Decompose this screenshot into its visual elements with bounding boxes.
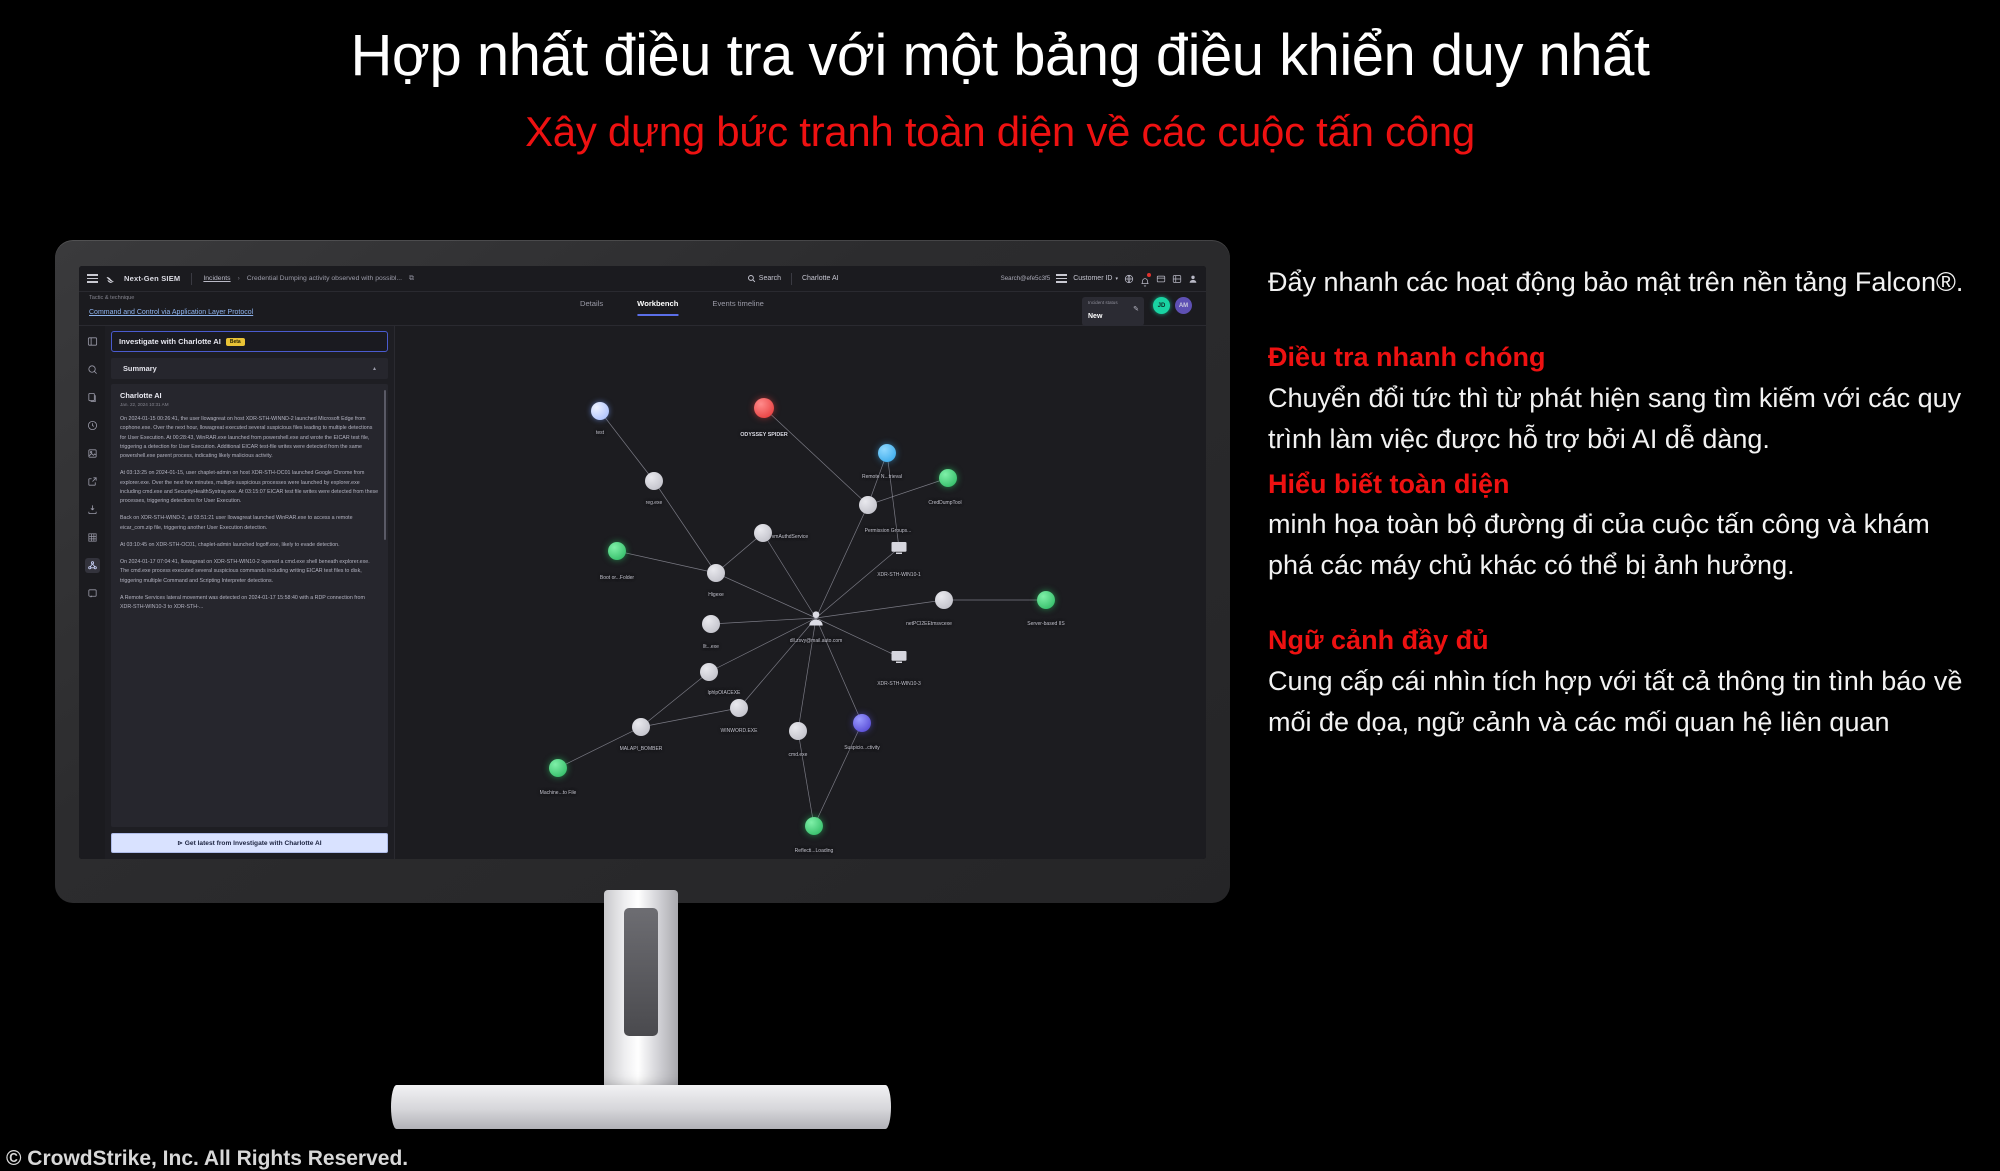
lead-paragraph: Đẩy nhanh các hoạt động bảo mật trên nền… (1268, 262, 1968, 303)
divider (191, 273, 192, 285)
charlotte-header[interactable]: Investigate with Charlotte AI Beta ▯ (111, 331, 388, 352)
app-brand: Next-Gen SIEM (124, 274, 180, 283)
page-subtitle: Xây dựng bức tranh toàn diện về các cuộc… (0, 108, 2000, 156)
graph-node-label: reg.exe (646, 500, 663, 506)
graph-node-label: Suspicio...ctivity (844, 745, 880, 751)
graph-node[interactable] (549, 759, 567, 777)
graph-node[interactable] (890, 648, 908, 666)
hamburger-icon[interactable] (87, 274, 98, 283)
copy-icon[interactable]: ⧉ (409, 275, 414, 283)
monitor-mockup: Next-Gen SIEM Incidents › Credential Dum… (55, 240, 1230, 1150)
beta-badge: Beta (226, 338, 245, 346)
tab-workbench[interactable]: Workbench (637, 299, 678, 316)
graph-nodes: testODYSSEY SPIDERreg.exeRemote N...trie… (395, 326, 1206, 859)
status-badge[interactable]: Incident status New ✎ (1082, 297, 1144, 326)
graph-node[interactable] (890, 539, 908, 557)
grid-table-icon[interactable] (85, 530, 100, 545)
external-link-icon[interactable] (85, 474, 100, 489)
benefit-title: Hiểu biết toàn diện (1268, 464, 1968, 505)
graph-node-label: llt...exe (703, 644, 719, 650)
summary-title: Summary (123, 364, 157, 373)
panel-toggle-icon[interactable] (85, 334, 100, 349)
search-icon[interactable] (85, 362, 100, 377)
avatar[interactable]: AM (1175, 297, 1192, 314)
charlotte-ai-button[interactable]: Charlotte AI (802, 275, 839, 282)
search-id-label: Search@efe5c3f5 (1001, 275, 1051, 282)
copy-column: Đẩy nhanh các hoạt động bảo mật trên nền… (1268, 262, 1968, 743)
graph-node-label: CredDumpTool (928, 500, 961, 506)
graph-node-label: ODYSSEY SPIDER (740, 432, 788, 438)
tab-details[interactable]: Details (580, 299, 603, 316)
page-title: Hợp nhất điều tra với một bảng điều khiể… (0, 22, 2000, 89)
graph-node-label: test (596, 430, 604, 436)
pencil-icon[interactable]: ✎ (1133, 305, 1139, 313)
app-topbar: Next-Gen SIEM Incidents › Credential Dum… (79, 266, 1206, 292)
graph-node[interactable] (859, 496, 877, 514)
list-icon[interactable] (1056, 274, 1067, 283)
customer-id-selector[interactable]: Customer ID ▾ (1073, 275, 1118, 282)
summary-paragraph: On 2024-01-17 07:04:41, llowagreat on XD… (120, 558, 379, 586)
benefit-title: Điều tra nhanh chóng (1268, 337, 1968, 378)
graph-node[interactable] (754, 524, 772, 542)
graph-node[interactable] (702, 615, 720, 633)
benefit-body: Chuyển đổi tức thì từ phát hiện sang tìm… (1268, 378, 1968, 460)
history-clock-icon[interactable] (85, 418, 100, 433)
divider (791, 273, 792, 285)
image-icon[interactable] (85, 446, 100, 461)
app-subheader: Tactic & technique Command and Control v… (79, 292, 1206, 326)
download-icon[interactable] (85, 502, 100, 517)
search-button[interactable]: Search (747, 274, 781, 283)
graph-network-icon[interactable] (85, 558, 100, 573)
grid-icon[interactable] (1172, 274, 1182, 284)
app-body: Investigate with Charlotte AI Beta ▯ Sum… (79, 326, 1206, 859)
footer-copyright: © CrowdStrike, Inc. All Rights Reserved. (6, 1147, 408, 1171)
graph-node-label: lphlpOIACEXE (708, 690, 741, 696)
refresh-icon: ⊳ (177, 840, 183, 847)
graph-node-label: XDR-STH-WIN10-1 (877, 572, 921, 578)
summary-paragraph: On 2024-01-15 00:26:41, the user llowagr… (120, 415, 379, 461)
graph-node[interactable] (805, 817, 823, 835)
topbar-right-group: Search Charlotte AI Search@efe5c3f5 Cust… (747, 273, 1198, 285)
technique-link[interactable]: Command and Control via Application Laye… (89, 309, 253, 316)
graph-node-label: Machine...to File (540, 790, 577, 796)
monitor-neck (604, 890, 678, 1100)
graph-node-label: Higexe (708, 592, 724, 598)
benefit-body: Cung cấp cái nhìn tích hợp với tất cả th… (1268, 661, 1968, 743)
graph-node[interactable] (935, 591, 953, 609)
graph-node[interactable] (1037, 591, 1055, 609)
graph-node[interactable] (878, 444, 896, 462)
crowdstrike-logo-icon (105, 273, 117, 285)
graph-node-label: XDR-STH-WIN10-3 (877, 681, 921, 687)
charlotte-ai-panel: Investigate with Charlotte AI Beta ▯ Sum… (105, 326, 395, 859)
notes-icon[interactable] (85, 586, 100, 601)
graph-node[interactable] (608, 542, 626, 560)
monitor-base (391, 1085, 891, 1129)
summary-paragraph: At 03:10:45 on XDR-STH-OC01, chaplet-adm… (120, 541, 379, 550)
status-label: Incident status (1088, 300, 1128, 305)
breadcrumb-current: Credential Dumping activity observed wit… (247, 275, 402, 282)
graph-node[interactable] (789, 722, 807, 740)
avatar[interactable]: JD (1153, 297, 1170, 314)
graph-node[interactable] (645, 472, 663, 490)
scrollbar[interactable] (384, 390, 387, 540)
graph-node-label: WINWORD.EXE (721, 728, 758, 734)
get-latest-button[interactable]: ⊳ Get latest from Investigate with Charl… (111, 833, 388, 853)
graph-node[interactable] (632, 718, 650, 736)
breadcrumb-separator: › (238, 275, 240, 282)
documents-icon[interactable] (85, 390, 100, 405)
user-icon[interactable] (1188, 274, 1198, 284)
benefit-body: minh họa toàn bộ đường đi của cuộc tấn c… (1268, 504, 1968, 586)
graph-node[interactable] (700, 663, 718, 681)
graph-node[interactable] (939, 469, 957, 487)
bell-icon[interactable] (1140, 274, 1150, 284)
tab-bar: Details Workbench Events timeline (580, 299, 764, 316)
graph-node-label: Boot or...Folder (600, 575, 634, 581)
graph-node-label: vmAuthdService (772, 534, 808, 540)
charlotte-author: Charlotte AI (120, 391, 379, 400)
graph-node[interactable] (591, 402, 609, 420)
graph-node-label: Remote N...trieval (862, 474, 902, 480)
graph-node[interactable] (853, 714, 871, 732)
monitor-screen: Next-Gen SIEM Incidents › Credential Dum… (79, 266, 1206, 859)
graph-node-label: MALAPI_BOMBER (620, 746, 663, 752)
graph-node[interactable] (754, 398, 774, 418)
summary-paragraph: A Remote Services lateral movement was d… (120, 594, 379, 613)
summary-section-header[interactable]: Summary ▴ (111, 358, 388, 379)
graph-node-label: Server-based IIS (1027, 621, 1065, 627)
benefit-title: Ngữ cảnh đầy đủ (1268, 620, 1968, 661)
incident-graph[interactable]: testODYSSEY SPIDERreg.exeRemote N...trie… (395, 326, 1206, 859)
notification-badge (1147, 273, 1151, 277)
charlotte-header-title: Investigate with Charlotte AI (119, 337, 221, 346)
breadcrumb-incidents[interactable]: Incidents (203, 275, 230, 282)
summary-paragraph: Back on XDR-STH-WIND-2, at 03:51:21 user… (120, 514, 379, 533)
search-icon (747, 274, 756, 283)
globe-icon[interactable] (1124, 274, 1134, 284)
customer-id-label: Customer ID (1073, 275, 1112, 282)
get-latest-label: Get latest from Investigate with Charlot… (185, 840, 322, 847)
graph-node[interactable] (707, 564, 725, 582)
icon-rail (79, 326, 105, 859)
monitor-bezel: Next-Gen SIEM Incidents › Credential Dum… (55, 240, 1230, 903)
graph-node[interactable] (806, 608, 826, 628)
graph-node[interactable] (730, 699, 748, 717)
summary-paragraph: At 03:13:25 on 2024-01-15, user chaplet-… (120, 469, 379, 506)
apps-icon[interactable] (1156, 274, 1166, 284)
graph-node-label: cmd.exe (789, 752, 808, 758)
chevron-down-icon: ▾ (1115, 276, 1118, 282)
search-label: Search (759, 275, 781, 282)
chevron-up-icon: ▴ (373, 365, 376, 372)
graph-node-label: dll.zsvy@mail.auto.com (790, 638, 843, 644)
graph-node-label: netPCI2EEtmsvcexe (906, 621, 952, 627)
status-value: New (1088, 313, 1102, 320)
graph-node-label: Reflecti...Loading (795, 848, 834, 854)
graph-node-label: Permission Groups... (865, 528, 912, 534)
charlotte-summary-body[interactable]: Charlotte AI Jan. 22, 2024 10:31 AM On 2… (111, 384, 388, 827)
tab-events-timeline[interactable]: Events timeline (712, 299, 764, 316)
charlotte-timestamp: Jan. 22, 2024 10:31 AM (120, 402, 379, 407)
